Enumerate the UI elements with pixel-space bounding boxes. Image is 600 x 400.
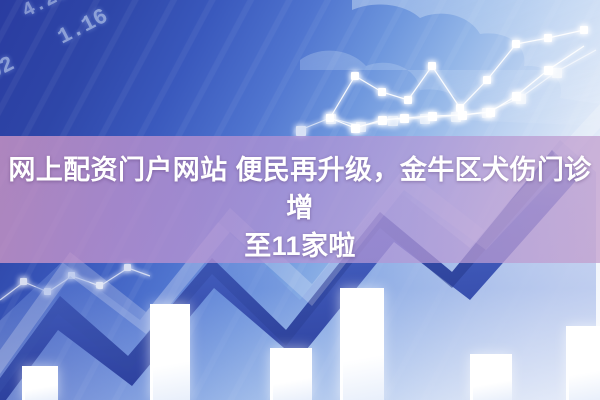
bar-column xyxy=(150,304,190,400)
title-line-1: 网上配资门户网站 便民再升级，金牛区犬伤门诊增 xyxy=(8,155,591,223)
bar-column xyxy=(470,354,512,400)
bar-column xyxy=(566,326,600,400)
bar-column xyxy=(270,348,312,400)
bar-column xyxy=(22,366,58,400)
page-title: 网上配资门户网站 便民再升级，金牛区犬伤门诊增 至11家啦 xyxy=(0,151,600,265)
title-line-2: 至11家啦 xyxy=(6,227,594,265)
bar-column xyxy=(340,288,384,400)
banner-image: -50.02-25.36-11.2545.0221.36-02.36-50.02… xyxy=(0,0,600,400)
